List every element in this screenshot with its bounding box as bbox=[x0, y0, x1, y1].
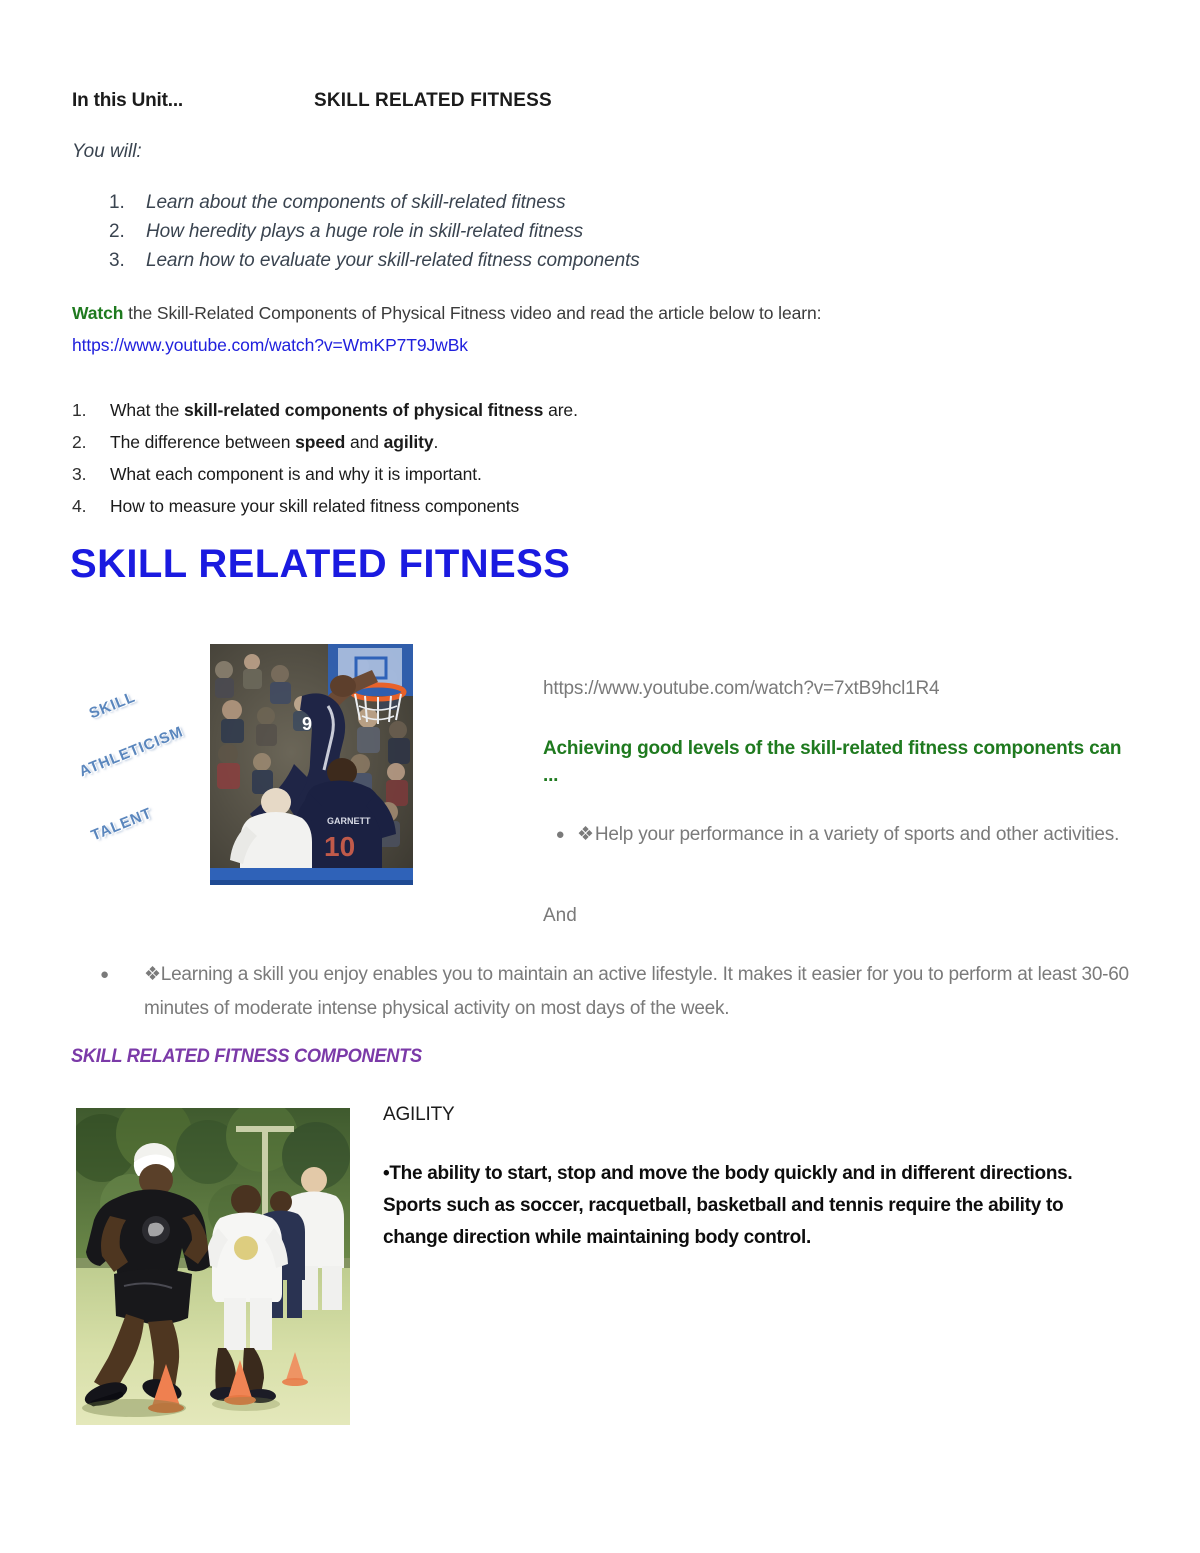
wordart-skill: SKILL bbox=[87, 689, 138, 723]
list-text: How heredity plays a huge role in skill-… bbox=[146, 217, 583, 246]
svg-text:GARNETT: GARNETT bbox=[327, 816, 371, 826]
list-item: 3. What each component is and why it is … bbox=[72, 458, 1022, 490]
watch-keyword: Watch bbox=[72, 303, 123, 323]
youtube-link-primary[interactable]: https://www.youtube.com/watch?v=WmKP7T9J… bbox=[72, 335, 468, 356]
list-item: 2. How heredity plays a huge role in ski… bbox=[72, 217, 972, 246]
bullet-text: ❖Learning a skill you enjoy enables you … bbox=[144, 958, 1140, 1026]
document-page: In this Unit... SKILL RELATED FITNESS Yo… bbox=[0, 0, 1200, 1553]
learn-objectives-list: 1. What the skill-related components of … bbox=[72, 394, 1022, 522]
list-item: 4. How to measure your skill related fit… bbox=[72, 490, 1022, 522]
objectives-list: 1. Learn about the components of skill-r… bbox=[72, 188, 972, 275]
list-item: 2. The difference between speed and agil… bbox=[72, 426, 1022, 458]
list-number: 4. bbox=[72, 490, 110, 522]
list-number: 1. bbox=[109, 188, 146, 217]
list-item: 1. Learn about the components of skill-r… bbox=[72, 188, 972, 217]
list-text: Learn how to evaluate your skill-related… bbox=[146, 246, 640, 275]
you-will-label: You will: bbox=[72, 141, 142, 163]
page-title: SKILL RELATED FITNESS bbox=[314, 90, 552, 112]
watch-sentence: the Skill-Related Components of Physical… bbox=[123, 303, 821, 323]
list-item: 1. What the skill-related components of … bbox=[72, 394, 1022, 426]
list-number: 2. bbox=[72, 426, 110, 458]
help-performance-bullet: ●❖Help your performance in a variety of … bbox=[543, 820, 1123, 849]
svg-text:9: 9 bbox=[302, 714, 312, 734]
svg-text:10: 10 bbox=[324, 831, 355, 862]
list-number: 1. bbox=[72, 394, 110, 426]
unit-label: In this Unit... bbox=[72, 90, 183, 112]
agility-description: •The ability to start, stop and move the… bbox=[383, 1158, 1108, 1254]
bullet-marker-icon: ● bbox=[543, 820, 577, 849]
agility-heading: AGILITY bbox=[383, 1104, 454, 1126]
diamond-marker-icon: ❖ bbox=[144, 964, 161, 985]
list-text: How to measure your skill related fitnes… bbox=[110, 490, 519, 522]
agility-cone-drill-photo bbox=[76, 1108, 350, 1425]
list-text: The difference between speed and agility… bbox=[110, 426, 438, 458]
list-text: What the skill-related components of phy… bbox=[110, 394, 578, 426]
basketball-dunk-photo: 9 GARNETT 10 bbox=[210, 644, 413, 885]
list-number: 2. bbox=[109, 217, 146, 246]
list-number: 3. bbox=[72, 458, 110, 490]
components-heading: SKILL RELATED FITNESS COMPONENTS bbox=[71, 1046, 422, 1068]
watch-instruction: Watch the Skill-Related Components of Ph… bbox=[72, 303, 821, 324]
bullet-marker-icon: ● bbox=[100, 958, 144, 1026]
achieving-levels-text: Achieving good levels of the skill-relat… bbox=[543, 735, 1133, 789]
list-item: 3. Learn how to evaluate your skill-rela… bbox=[72, 246, 972, 275]
wordart-athleticism: ATHLETICISM bbox=[77, 723, 186, 780]
diamond-marker-icon: ❖ bbox=[577, 824, 594, 845]
learning-skill-bullet: ● ❖Learning a skill you enjoy enables yo… bbox=[100, 958, 1140, 1026]
wordart-group: SKILL ATHLETICISM TALENT bbox=[72, 680, 222, 860]
and-label: And bbox=[543, 905, 577, 927]
list-text: Learn about the components of skill-rela… bbox=[146, 188, 565, 217]
youtube-link-secondary[interactable]: https://www.youtube.com/watch?v=7xtB9hcl… bbox=[543, 678, 939, 700]
list-text: What each component is and why it is imp… bbox=[110, 458, 482, 490]
section-heading-skill-related-fitness: SKILL RELATED FITNESS bbox=[70, 542, 570, 587]
wordart-talent: TALENT bbox=[89, 805, 155, 845]
bullet-text: Help your performance in a variety of sp… bbox=[595, 824, 1119, 845]
document-header: In this Unit... SKILL RELATED FITNESS bbox=[72, 90, 1132, 112]
list-number: 3. bbox=[109, 246, 146, 275]
